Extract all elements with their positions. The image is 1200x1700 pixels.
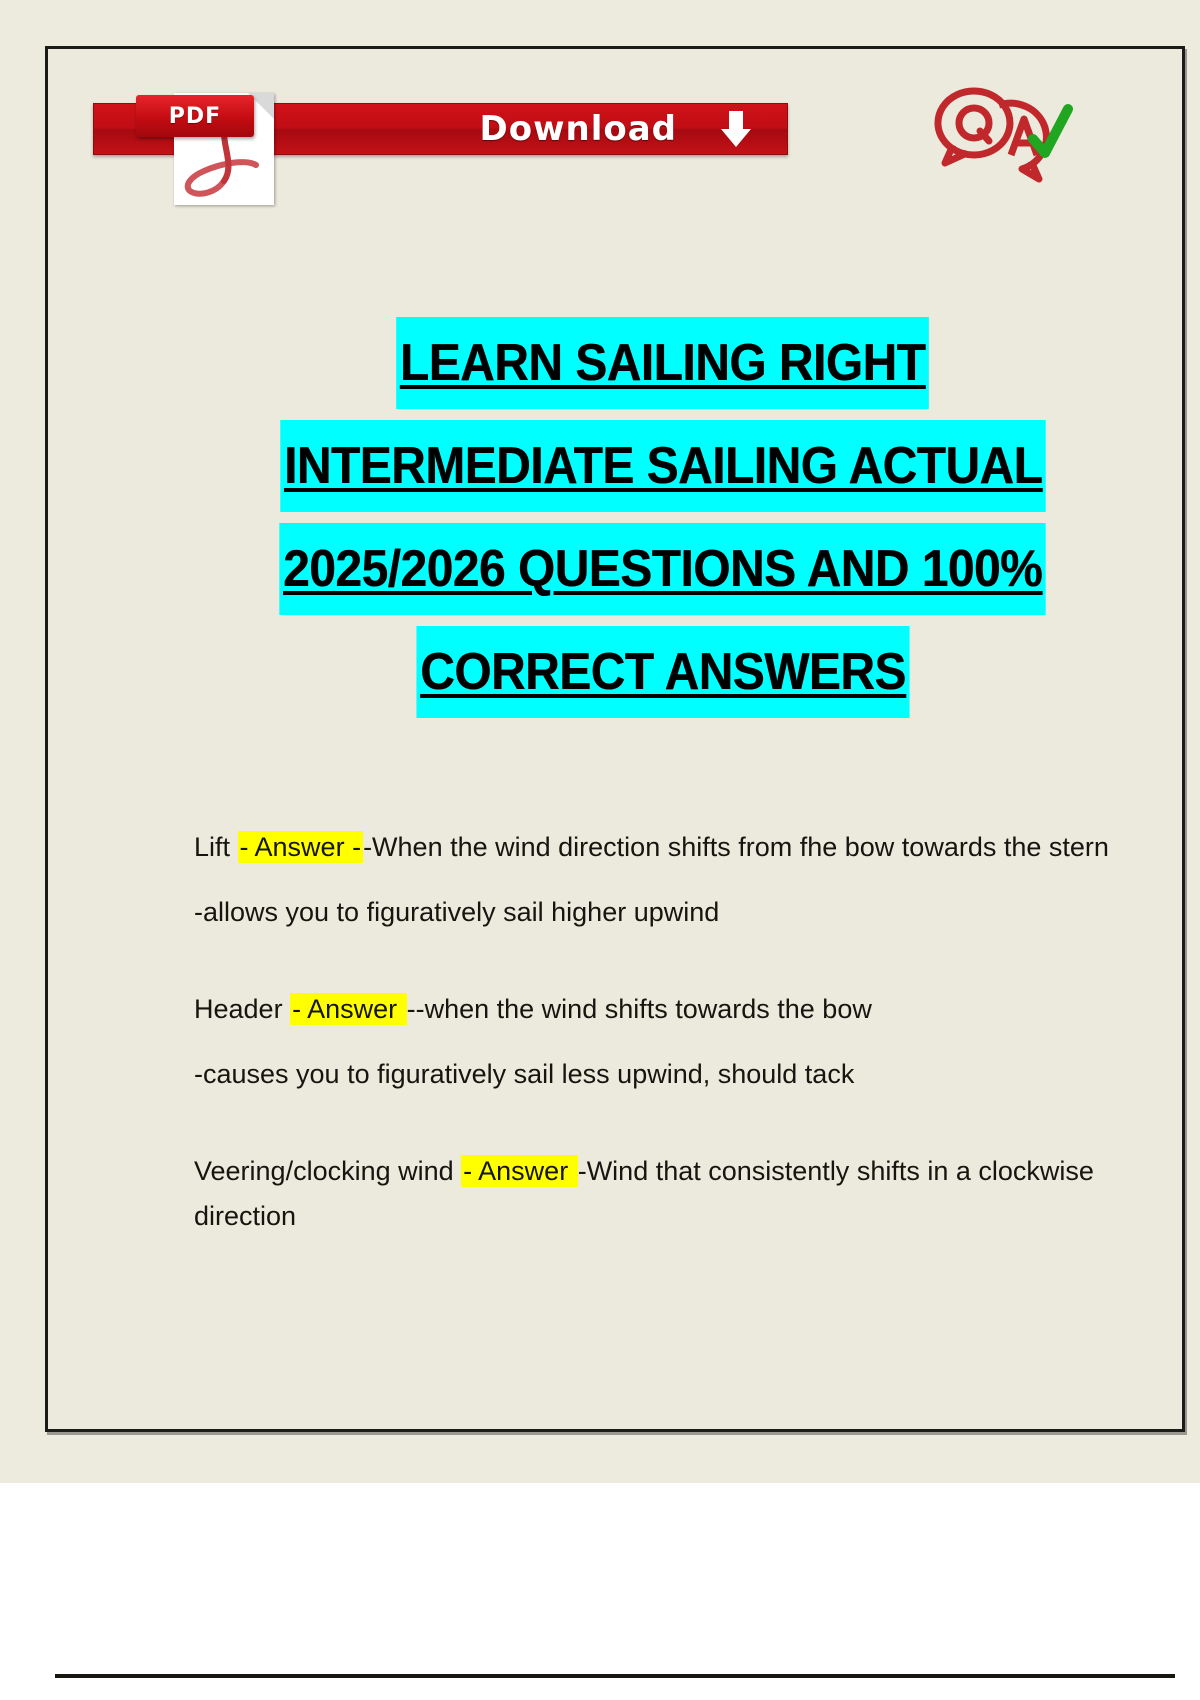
qa-answer-marker: - Answer: [461, 1155, 578, 1187]
qa-entry: Header - Answer --when the wind shifts t…: [194, 987, 1134, 1097]
pdf-file-icon: PDF: [136, 77, 276, 207]
qa-note: -causes you to figuratively sail less up…: [194, 1052, 1134, 1097]
qa-definition: -When the wind direction shifts from fhe…: [363, 832, 1109, 862]
pdf-badge: PDF: [136, 95, 254, 137]
qa-answer-marker: - Answer: [290, 993, 407, 1025]
download-button-label: Download: [480, 109, 678, 149]
qa-entry-main: Header - Answer --when the wind shifts t…: [194, 987, 1134, 1032]
qa-logo-svg: [927, 83, 1077, 193]
pdf-badge-label: PDF: [169, 104, 221, 129]
qa-definition: --when the wind shifts towards the bow: [407, 994, 872, 1024]
qa-entry-main: Veering/clocking wind - Answer -Wind tha…: [194, 1149, 1134, 1239]
title-line-1: LEARN SAILING RIGHT: [108, 317, 1200, 420]
qa-term: Lift: [194, 832, 238, 862]
down-arrow-icon: [721, 111, 751, 147]
document-title: LEARN SAILING RIGHT INTERMEDIATE SAILING…: [108, 317, 1200, 729]
document-body: Lift - Answer --When the wind direction …: [194, 825, 1134, 1239]
qa-note: -allows you to figuratively sail higher …: [194, 890, 1134, 935]
title-line-3: 2025/2026 QUESTIONS AND 100%: [108, 523, 1200, 626]
qa-term: Veering/clocking wind: [194, 1156, 461, 1186]
document-page-sheet: Download PDF: [45, 46, 1185, 1432]
title-line-2: INTERMEDIATE SAILING ACTUAL: [108, 420, 1200, 523]
qa-entry: Lift - Answer --When the wind direction …: [194, 825, 1134, 935]
page-gutter: [0, 1483, 1200, 1700]
qa-entry-main: Lift - Answer --When the wind direction …: [194, 825, 1134, 870]
title-line-4-text: CORRECT ANSWERS: [416, 626, 909, 718]
title-line-1-text: LEARN SAILING RIGHT: [397, 317, 930, 409]
qa-logo: [927, 83, 1077, 193]
title-line-4: CORRECT ANSWERS: [108, 626, 1200, 729]
qa-entry: Veering/clocking wind - Answer -Wind tha…: [194, 1149, 1134, 1239]
qa-answer-marker: - Answer -: [238, 831, 364, 863]
scanned-page-background: Download PDF: [0, 0, 1200, 1483]
document-header: Download PDF: [48, 61, 1182, 191]
title-line-2-text: INTERMEDIATE SAILING ACTUAL: [280, 420, 1046, 512]
next-page-top-rule: [55, 1674, 1175, 1678]
title-line-3-text: 2025/2026 QUESTIONS AND 100%: [280, 523, 1046, 615]
qa-term: Header: [194, 994, 290, 1024]
